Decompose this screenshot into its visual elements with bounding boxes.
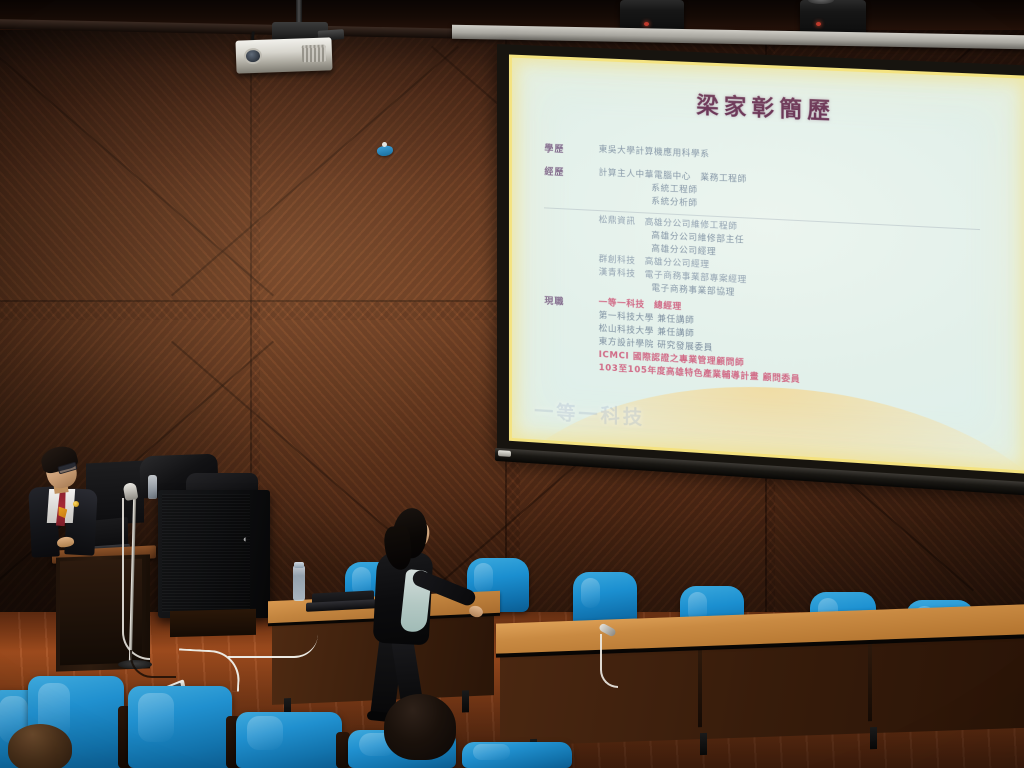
presenter-at-lectern: [28, 445, 106, 560]
mic-stand-cable: [122, 498, 150, 660]
projector-vent: [302, 45, 327, 63]
slide-watermark: 一等一科技: [534, 396, 645, 430]
projection-screen: 一等一科技 梁家彰簡歷 學歷 東吳大學計算機應用科學系 經歷 計算主人中華電腦中…: [497, 44, 1024, 491]
table-divider-panel: [698, 647, 702, 727]
table-leg: [462, 690, 469, 712]
audience-member-left: [8, 724, 72, 768]
tabletop-microphone-cable: [600, 634, 618, 688]
slide-row-label: 現職: [544, 293, 598, 309]
amplifier-grill: [162, 494, 250, 612]
amplifier-stand: [170, 609, 256, 637]
audience-member-front: [384, 694, 456, 760]
audience-seat[interactable]: [462, 742, 572, 768]
water-bottle-cap: [294, 562, 304, 568]
projector-lens-icon: [244, 48, 263, 65]
amplifier-brand-mark: ◐: [243, 534, 259, 546]
slide-body: 學歷 東吳大學計算機應用科學系 經歷 計算主人中華電腦中心 業務工程師 系統工程…: [544, 141, 1008, 403]
power-cable-run: [228, 634, 318, 658]
slide-row-label: [544, 211, 598, 214]
table-leg: [870, 727, 877, 749]
speaker-led-icon: [816, 22, 821, 26]
audience-seat[interactable]: [128, 686, 232, 768]
speaker-driver-icon: [808, 0, 834, 4]
speaker-led-icon: [644, 22, 649, 26]
ceiling-projector: [235, 37, 332, 73]
blue-wall-pin-head-icon: [382, 142, 387, 147]
small-bottle: [148, 475, 157, 499]
presenter-lapel-pin-icon: [73, 501, 79, 507]
audience-seat[interactable]: [236, 712, 342, 768]
table-divider-panel: [868, 641, 872, 721]
slide-title: 梁家彰簡歷: [509, 80, 1024, 135]
projected-slide: 一等一科技 梁家彰簡歷 學歷 東吳大學計算機應用科學系 經歷 計算主人中華電腦中…: [509, 54, 1024, 473]
table-leg: [700, 733, 707, 755]
slide-row-label: 經歷: [544, 164, 598, 180]
auditorium-scene: 一等一科技 梁家彰簡歷 學歷 東吳大學計算機應用科學系 經歷 計算主人中華電腦中…: [0, 0, 1024, 768]
screen-pull-knob[interactable]: [498, 450, 511, 457]
water-bottle[interactable]: [293, 565, 305, 601]
slide-row-label: 學歷: [544, 141, 598, 157]
walking-woman: [345, 508, 445, 723]
